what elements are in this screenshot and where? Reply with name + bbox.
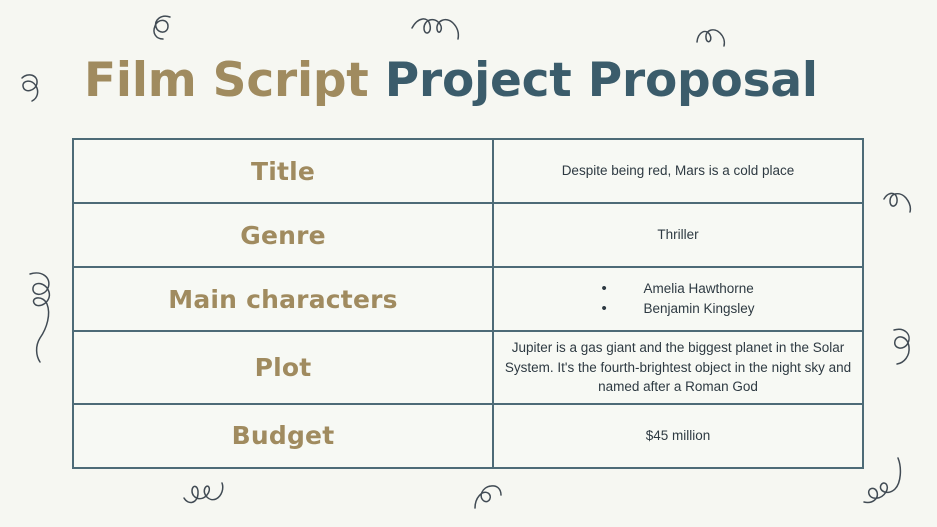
squiggle-loop-bottom-center-icon [472,484,504,512]
table-row: Budget $45 million [73,404,863,468]
row-value-genre: Thriller [493,203,863,267]
table-row: Main characters Amelia Hawthorne Benjami… [73,267,863,331]
title-accent-part: Film Script [84,53,385,108]
row-value-title: Despite being red, Mars is a cold place [493,139,863,203]
squiggle-loop-right-upper-icon [882,190,916,214]
slide-canvas: Film Script Project Proposal Title Despi… [0,0,937,527]
squiggle-loop-left-edge-icon [18,70,48,104]
row-label-main-characters: Main characters [73,267,493,331]
squiggle-loop-top-left-icon [150,14,176,42]
list-item: Amelia Hawthorne [601,279,754,299]
row-value-budget: $45 million [493,404,863,468]
row-value-plot: Jupiter is a gas giant and the biggest p… [493,331,863,404]
table-row: Genre Thriller [73,203,863,267]
list-item: Benjamin Kingsley [601,299,754,319]
squiggle-double-loop-top-center-icon [410,14,472,40]
plot-value-text: Jupiter is a gas giant and the biggest p… [504,338,852,397]
squiggle-vertical-loops-left-icon [26,268,56,368]
table-row: Plot Jupiter is a gas giant and the bigg… [73,331,863,404]
table-row: Title Despite being red, Mars is a cold … [73,139,863,203]
title-value-text: Despite being red, Mars is a cold place [504,161,852,181]
genre-value-text: Thriller [504,225,852,245]
squiggle-loop-right-middle-icon [888,326,918,366]
project-proposal-table: Title Despite being red, Mars is a cold … [72,138,864,469]
row-label-genre: Genre [73,203,493,267]
row-label-title: Title [73,139,493,203]
row-value-main-characters: Amelia Hawthorne Benjamin Kingsley [493,267,863,331]
main-characters-list: Amelia Hawthorne Benjamin Kingsley [601,279,754,320]
squiggle-loop-top-right-icon [695,26,729,48]
row-label-budget: Budget [73,404,493,468]
squiggle-triple-loop-bottom-left-icon [182,480,238,506]
title-main-part: Project Proposal [385,53,818,108]
page-title: Film Script Project Proposal [84,54,818,108]
row-label-plot: Plot [73,331,493,404]
squiggle-diagonal-loops-bottom-right-icon [862,452,910,508]
budget-value-text: $45 million [504,426,852,446]
